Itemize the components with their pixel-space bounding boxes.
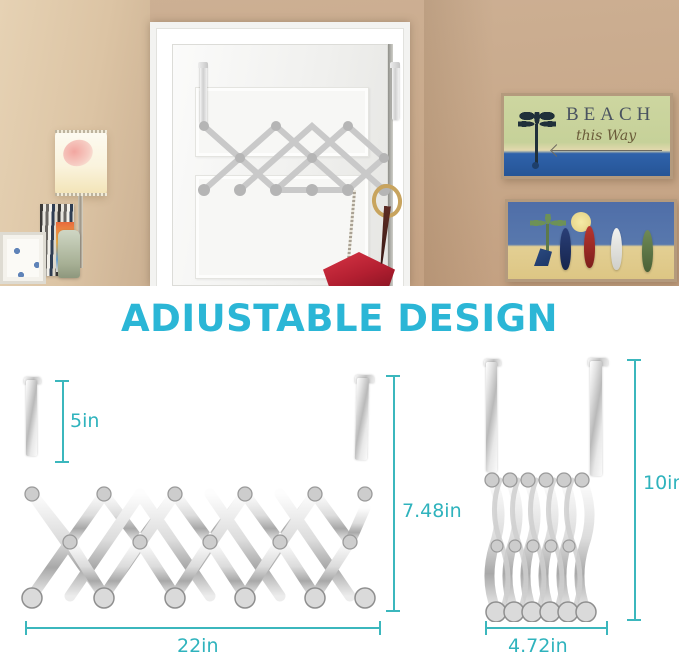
dimension-5in-tick-bottom <box>55 461 69 463</box>
rack-bracket-right-cap <box>390 62 400 68</box>
beach-sign-subtitle: this Way <box>576 128 636 144</box>
dimension-10in-tick-top <box>627 359 641 361</box>
expanded-bracket-left <box>26 380 37 456</box>
picture-frame <box>0 232 46 284</box>
dimension-10in-line <box>634 359 636 621</box>
cordless-phone <box>58 230 80 278</box>
rack-bracket-left-cap <box>198 62 208 68</box>
dimension-22in-tick-left <box>25 621 27 635</box>
dimension-5in-label: 5in <box>70 410 99 432</box>
dimension-4-72in-tick-left <box>485 621 487 635</box>
lamp-shade-top-rim <box>55 130 107 133</box>
surfboard-4 <box>642 230 653 272</box>
dimension-22in-line <box>26 627 381 629</box>
dimension-diagrams: 5in 7.48in 22in <box>0 350 679 667</box>
page-title: ADIUSTABLE DESIGN <box>0 297 679 340</box>
beach-sign-title: BEACH <box>566 104 655 126</box>
dimension-10in-label: 10in <box>643 472 679 494</box>
dimension-10in-tick-bottom <box>627 619 641 621</box>
dimension-22in-tick-right <box>379 621 381 635</box>
surfboard-3 <box>611 228 622 270</box>
dimension-4-72in-line <box>486 627 608 629</box>
dimension-7-48in-tick-bottom <box>386 610 400 612</box>
dimension-7-48in-line <box>393 375 395 612</box>
collapsed-bracket-right <box>590 361 602 476</box>
dimension-4-72in-tick-right <box>606 621 608 635</box>
expanded-lattice <box>0 450 400 610</box>
collapsed-bracket-left <box>486 362 497 472</box>
surfboard-2 <box>584 226 595 268</box>
dimension-7-48in-label: 7.48in <box>402 500 462 522</box>
dimension-5in-tick-top <box>55 380 69 382</box>
dimension-5in-line <box>62 380 64 463</box>
wall-shadow <box>424 0 494 286</box>
dimension-22in-label: 22in <box>177 635 219 657</box>
dimension-4-72in-label: 4.72in <box>508 635 568 657</box>
coconut-icon <box>532 162 539 169</box>
surfboard-1 <box>560 228 571 270</box>
lifestyle-photo: BEACH this Way <box>0 0 679 286</box>
expanded-bracket-right <box>355 378 369 460</box>
palm-trunk <box>535 124 538 166</box>
table-lamp-shade <box>55 130 107 196</box>
rack-bracket-right <box>392 64 399 120</box>
beach-sign-artwork: BEACH this Way <box>501 93 673 179</box>
dimension-7-48in-tick-top <box>386 375 400 377</box>
collapsed-lattice <box>470 462 630 622</box>
surfboard-artwork <box>505 199 677 282</box>
left-arrow-icon <box>552 150 662 151</box>
